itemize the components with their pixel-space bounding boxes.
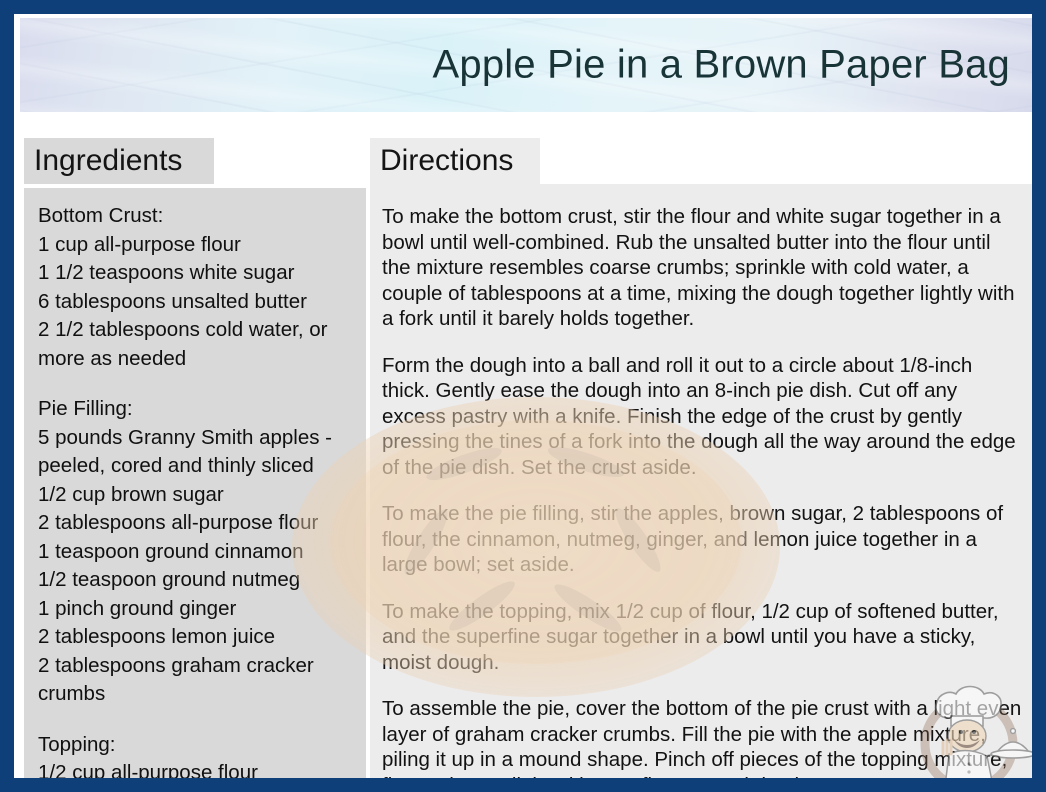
ingredient-item: 1/2 teaspoon ground nutmeg	[38, 566, 354, 595]
recipe-card: Apple Pie in a Brown Paper Bag	[0, 0, 1046, 792]
direction-step: To make the bottom crust, stir the flour…	[382, 204, 1022, 332]
ingredient-group: Pie Filling: 5 pounds Granny Smith apple…	[38, 395, 354, 709]
ingredient-item: 6 tablespoons unsalted butter	[38, 288, 354, 317]
ingredient-group: Bottom Crust: 1 cup all-purpose flour 1 …	[38, 202, 354, 373]
title-banner: Apple Pie in a Brown Paper Bag	[20, 18, 1032, 112]
ingredients-panel: Bottom Crust: 1 cup all-purpose flour 1 …	[24, 188, 366, 778]
direction-step: To make the pie filling, stir the apples…	[382, 501, 1022, 578]
ingredient-item: 2 tablespoons lemon juice	[38, 623, 354, 652]
ingredient-group-label: Topping:	[38, 731, 354, 760]
ingredients-heading: Ingredients	[24, 144, 182, 178]
ingredients-list: Bottom Crust: 1 cup all-purpose flour 1 …	[24, 188, 366, 778]
direction-step: To make the topping, mix 1/2 cup of flou…	[382, 599, 1022, 676]
ingredient-item: 2 1/2 tablespoons cold water, or more as…	[38, 316, 354, 373]
ingredients-header-tab: Ingredients	[24, 138, 214, 184]
ingredient-item: 1 1/2 teaspoons white sugar	[38, 259, 354, 288]
ingredient-item: 1 pinch ground ginger	[38, 595, 354, 624]
ingredient-group-label: Bottom Crust:	[38, 202, 354, 231]
ingredient-group: Topping: 1/2 cup all-purpose flour 1/2 c…	[38, 731, 354, 779]
directions-heading: Directions	[370, 144, 513, 178]
ingredient-item: 5 pounds Granny Smith apples - peeled, c…	[38, 424, 354, 481]
directions-list: To make the bottom crust, stir the flour…	[370, 184, 1032, 778]
page-title: Apple Pie in a Brown Paper Bag	[433, 43, 1010, 88]
ingredient-item: 2 tablespoons all-purpose flour	[38, 509, 354, 538]
ingredient-item: 1 teaspoon ground cinnamon	[38, 538, 354, 567]
ingredient-item: 1 cup all-purpose flour	[38, 231, 354, 260]
ingredient-item: 1/2 cup brown sugar	[38, 481, 354, 510]
directions-header-tab: Directions	[370, 138, 540, 184]
directions-panel: To make the bottom crust, stir the flour…	[370, 184, 1032, 778]
ingredient-item: 1/2 cup all-purpose flour	[38, 759, 354, 778]
direction-step: Form the dough into a ball and roll it o…	[382, 353, 1022, 481]
direction-step: To assemble the pie, cover the bottom of…	[382, 696, 1022, 778]
recipe-page: Apple Pie in a Brown Paper Bag	[14, 14, 1032, 778]
ingredient-item: 2 tablespoons graham cracker crumbs	[38, 652, 354, 709]
ingredient-group-label: Pie Filling:	[38, 395, 354, 424]
